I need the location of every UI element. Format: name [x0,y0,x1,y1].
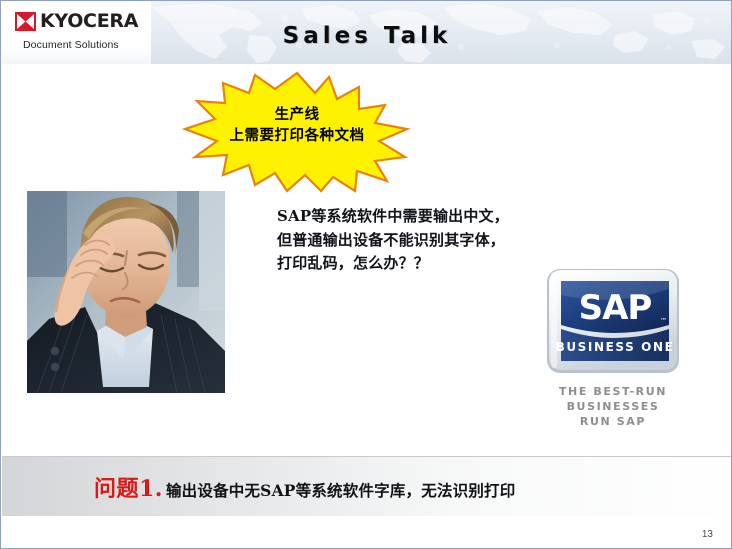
starburst-callout: 生产线 上需要打印各种文档 [179,71,415,193]
starburst-line-2: 上需要打印各种文档 [179,126,415,147]
sap-business-one-logo: SAP ™ BUSINESS ONE THE BEST-RUN BUSINESS… [529,267,697,429]
svg-text:™: ™ [660,317,667,325]
body-text: SAP等系统软件中需要输出中文， 但普通输出设备不能识别其字体， 打印乱码，怎么… [277,205,527,276]
slide-canvas: KYOCERA Document Solutions Sales Talk 生产… [0,0,732,549]
photo-illustration [27,191,225,393]
body-line-3: 打印乱码，怎么办？？ [277,252,527,276]
problem-description: 输出设备中无SAP等系统软件字库，无法识别打印 [166,479,515,501]
body-line-1: SAP等系统软件中需要输出中文， [277,205,527,229]
sap-tagline: THE BEST-RUN BUSINESSES RUN SAP [529,384,697,429]
starburst-text: 生产线 上需要打印各种文档 [179,105,415,147]
body-line-2: 但普通输出设备不能识别其字体， [277,229,527,253]
page-number: 13 [702,529,713,540]
slide-header: KYOCERA Document Solutions Sales Talk [1,1,732,64]
starburst-line-1: 生产线 [179,105,415,126]
conclusion-banner: 问题1. 输出设备中无SAP等系统软件字库，无法识别打印 [2,456,732,516]
frustrated-businesswoman-photo [27,191,225,393]
problem-number-label: 问题1. [94,471,163,503]
page-title: Sales Talk [1,23,732,49]
sap-tagline-line-2: BUSINESSES [529,399,697,414]
sap-tagline-line-1: THE BEST-RUN [529,384,697,399]
conclusion-banner-inner: 问题1. 输出设备中无SAP等系统软件字库，无法识别打印 [2,471,515,503]
sap-tagline-line-3: RUN SAP [529,414,697,429]
sap-badge-icon: SAP ™ BUSINESS ONE [543,267,683,375]
svg-text:SAP: SAP [579,288,652,328]
svg-text:BUSINESS ONE: BUSINESS ONE [556,340,675,354]
